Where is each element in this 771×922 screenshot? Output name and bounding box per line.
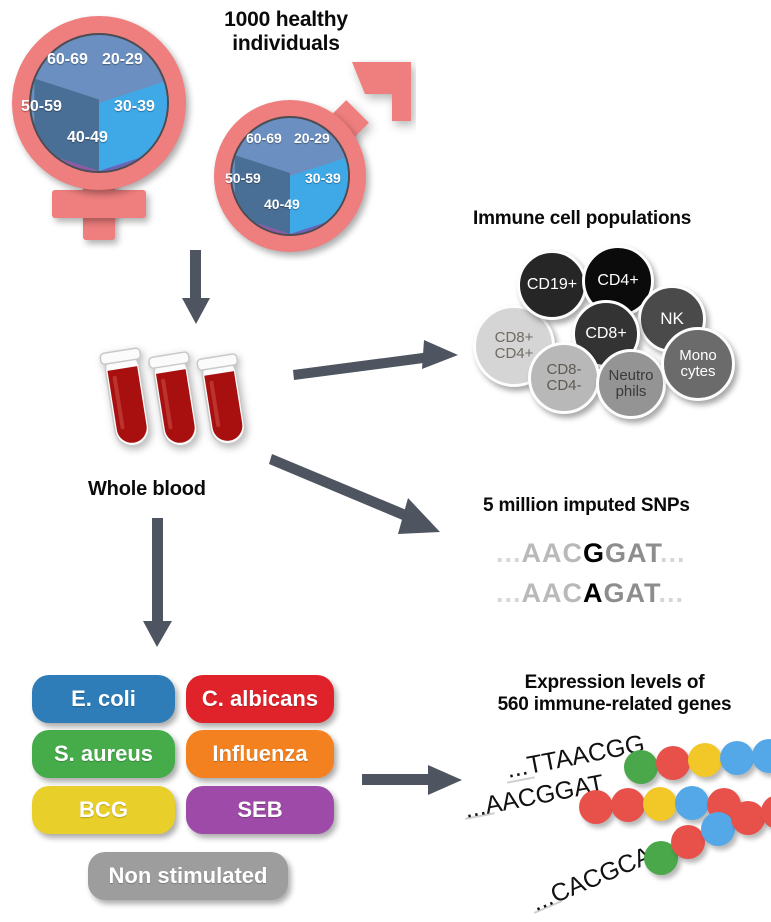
- snp-variant-allele: G: [583, 538, 605, 568]
- stimulus-label: BCG: [79, 797, 128, 823]
- male-symbol: 20-29 30-39 40-49 50-59 60-69: [204, 60, 416, 250]
- immune-cell-label-line2: cytes: [680, 364, 715, 380]
- strand-bead: [720, 741, 754, 775]
- immune-cell-label: CD4+: [597, 273, 638, 290]
- strand-bead: [671, 825, 705, 859]
- snp-variant-allele: A: [583, 578, 604, 608]
- whole-blood-label: Whole blood: [88, 478, 206, 501]
- immune-cell-cd19p: CD19+: [517, 250, 587, 320]
- cohort-heading: 1000 healthy individuals: [186, 8, 386, 57]
- expression-heading: Expression levels of 560 immune-related …: [462, 672, 767, 716]
- snp-suffix: GAT: [605, 538, 660, 568]
- stimulus-seb[interactable]: SEB: [186, 786, 334, 834]
- arrow-stimuli-to-expression: [362, 762, 466, 798]
- strand-bead: [643, 787, 677, 821]
- immune-cell-monocytes: Mono cytes: [661, 327, 735, 401]
- immune-cell-label-line2: phils: [616, 384, 647, 400]
- stimulus-bcg[interactable]: BCG: [32, 786, 175, 834]
- immune-cell-label-line1: Neutro: [608, 368, 653, 384]
- stimulus-influenza[interactable]: Influenza: [186, 730, 334, 778]
- pie-label-60-69: 60-69: [47, 51, 88, 69]
- arrow-cohort-to-blood: [172, 250, 220, 328]
- immune-cell-label-line2: CD4+: [495, 346, 534, 362]
- pie-label-30-39: 30-39: [305, 170, 341, 186]
- immune-cell-label-line1: CD8+: [495, 330, 534, 346]
- blood-tube-group-icon: [98, 338, 258, 458]
- stimulus-label: Influenza: [212, 741, 307, 767]
- pie-label-50-59: 50-59: [225, 170, 261, 186]
- pie-label-50-59: 50-59: [21, 98, 62, 116]
- stimulus-label: E. coli: [71, 686, 136, 712]
- cohort-heading-line2: individuals: [186, 32, 386, 56]
- immune-cell-label: NK: [660, 310, 684, 328]
- immune-heading: Immune cell populations: [473, 208, 691, 230]
- immune-cell-cd8n-cd4n: CD8- CD4-: [528, 342, 600, 414]
- stimulus-e-coli[interactable]: E. coli: [32, 675, 175, 723]
- stimulus-label: Non stimulated: [109, 863, 268, 889]
- pie-label-30-39: 30-39: [114, 98, 155, 116]
- strand-bead: [701, 812, 735, 846]
- snp-allele-2: ...AACAGAT...: [496, 578, 684, 609]
- strand-bead: [752, 739, 771, 773]
- arrow-blood-to-stimuli: [136, 518, 182, 650]
- immune-cell-label: CD19+: [527, 277, 577, 294]
- strand-bead: [611, 788, 645, 822]
- arrow-blood-to-immune: [290, 330, 465, 390]
- figure-canvas: 1000 healthy individuals 20-29 30-39 40-…: [0, 0, 771, 922]
- stimulus-s-aureus[interactable]: S. aureus: [32, 730, 175, 778]
- immune-cell-neutrophils: Neutro phils: [596, 349, 666, 419]
- expression-heading-line1: Expression levels of: [462, 672, 767, 694]
- snp-suffix: GAT: [604, 578, 659, 608]
- snp-trail-dots: ...: [659, 578, 685, 608]
- strand-bead: [731, 801, 765, 835]
- arrow-blood-to-snps: [268, 448, 448, 548]
- immune-cell-label-line1: Mono: [679, 348, 717, 364]
- pie-label-20-29: 20-29: [294, 130, 330, 146]
- expression-strand-3: ...CACGCAA: [455, 828, 771, 918]
- stimulus-label: C. albicans: [202, 686, 318, 712]
- stimulus-c-albicans[interactable]: C. albicans: [186, 675, 334, 723]
- expression-heading-line2: 560 immune-related genes: [462, 694, 767, 716]
- snp-lead-dots: ...: [496, 578, 522, 608]
- immune-cell-label: CD8+: [585, 326, 626, 343]
- snp-trail-dots: ...: [660, 538, 686, 568]
- stimulus-label: SEB: [237, 797, 282, 823]
- strand-bead: [675, 786, 709, 820]
- pie-label-20-29: 20-29: [102, 51, 143, 69]
- snps-heading: 5 million imputed SNPs: [483, 495, 690, 517]
- snp-prefix: AAC: [522, 538, 584, 568]
- immune-cell-cluster: CD8+ CD4+ CD19+ CD4+ NK CD8+ CD8- CD4- N…: [455, 245, 765, 420]
- blood-tubes: [98, 338, 258, 458]
- strand-bead: [656, 746, 690, 780]
- female-stem-cross: [52, 190, 146, 218]
- pie-label-40-49: 40-49: [67, 129, 108, 147]
- cohort-heading-line1: 1000 healthy: [186, 8, 386, 32]
- immune-cell-label-line1: CD8-: [546, 362, 581, 378]
- stimulus-label: S. aureus: [54, 741, 153, 767]
- expression-strands: ...TTAACGG ...AACGGAT ...CACGCAA: [455, 740, 771, 920]
- immune-cell-label-line2: CD4-: [546, 378, 581, 394]
- pie-label-40-49: 40-49: [264, 196, 300, 212]
- snp-allele-1: ...AACGGAT...: [496, 538, 686, 569]
- stimulus-non-stimulated[interactable]: Non stimulated: [88, 852, 288, 900]
- strand-bead: [579, 790, 613, 824]
- snp-lead-dots: ...: [496, 538, 522, 568]
- snp-prefix: AAC: [522, 578, 584, 608]
- pie-label-60-69: 60-69: [246, 130, 282, 146]
- strand-bead: [688, 743, 722, 777]
- female-symbol: 20-29 30-39 40-49 50-59 60-69: [10, 12, 190, 237]
